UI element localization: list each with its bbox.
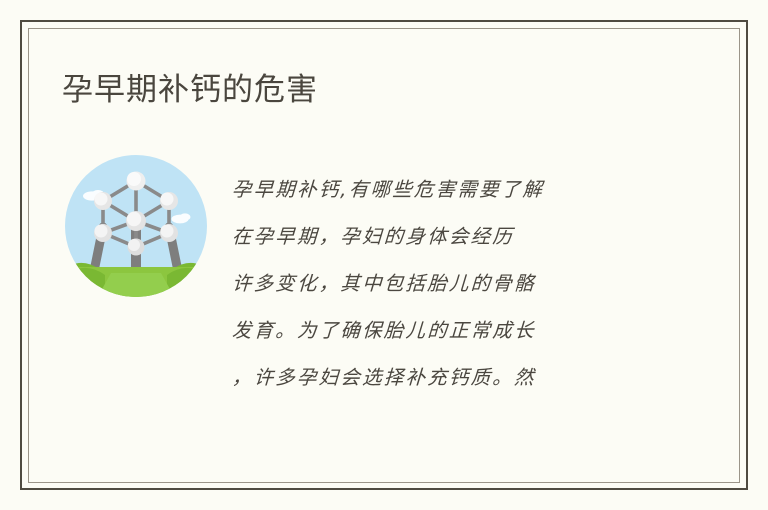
article-page: 孕早期补钙的危害 <box>0 0 768 510</box>
page-content: 孕早期补钙的危害 <box>0 0 768 510</box>
article-line: ，许多孕妇会选择补充钙质。然 <box>231 354 653 401</box>
article-line: 在孕早期，孕妇的身体会经历 <box>231 213 653 260</box>
page-title: 孕早期补钙的危害 <box>62 64 318 109</box>
article-line: 发育。为了确保胎儿的正常成长 <box>231 307 653 354</box>
article-line: 孕早期补钙,有哪些危害需要了解 <box>231 166 653 213</box>
article-line: 许多变化，其中包括胎儿的骨骼 <box>231 260 653 307</box>
article-body: 孕早期补钙,有哪些危害需要了解 在孕早期，孕妇的身体会经历 许多变化，其中包括胎… <box>232 166 652 401</box>
atomium-landmark-icon <box>65 155 207 297</box>
